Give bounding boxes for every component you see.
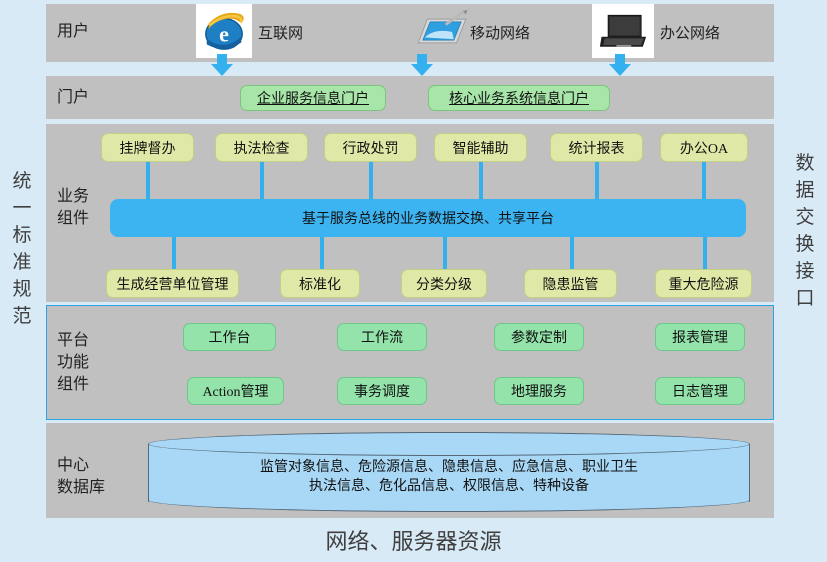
connector-top-5 [702, 162, 706, 199]
portal-box-core-business-label: 核心业务系统信息门户 [449, 88, 589, 108]
connector-bottom-2 [443, 237, 447, 269]
platform-box-report-management-label: 报表管理 [672, 327, 728, 347]
business-box-supervision-order-label: 挂牌督办 [120, 138, 176, 158]
connector-top-1 [260, 162, 264, 199]
platform-box-parameter-customization-label: 参数定制 [511, 327, 567, 347]
right-label-char-1: 据 [783, 177, 827, 204]
right-label-char-4: 接 [783, 258, 827, 285]
platform-box-workflow-label: 工作流 [361, 327, 403, 347]
business-box-statistics-report-label: 统计报表 [569, 138, 625, 158]
office-channel-caption: 办公网络 [660, 22, 720, 43]
business-box-hazard-supervision-label: 隐患监管 [543, 274, 599, 294]
arrow-down-office [609, 54, 631, 76]
platform-box-report-management[interactable]: 报表管理 [655, 323, 745, 351]
portal-box-enterprise-service[interactable]: 企业服务信息门户 [240, 85, 386, 111]
platform-box-workbench-label: 工作台 [209, 327, 251, 347]
service-bus-bar[interactable]: 基于服务总线的业务数据交换、共享平台 [110, 199, 746, 237]
business-box-law-inspection[interactable]: 执法检查 [215, 133, 308, 162]
database-row-label-line2: 数据库 [57, 477, 105, 499]
business-box-admin-penalty-label: 行政处罚 [343, 138, 399, 158]
business-row-label-line1: 业务 [57, 186, 89, 208]
portal-box-enterprise-service-label: 企业服务信息门户 [257, 88, 369, 108]
business-row-label-line2: 组件 [57, 208, 89, 230]
internet-explorer-icon: e [196, 4, 252, 58]
platform-box-workbench[interactable]: 工作台 [183, 323, 276, 351]
platform-row-label-line3: 组件 [57, 374, 89, 396]
database-content-text: 监管对象信息、危险源信息、隐患信息、应急信息、职业卫生 执法信息、危化品信息、权… [148, 458, 750, 496]
database-row-label-line1: 中心 [57, 455, 105, 477]
database-row-label: 中心 数据库 [57, 455, 105, 499]
left-label-char-0: 统 [0, 168, 44, 195]
tablet-glyph [414, 10, 470, 52]
business-box-office-oa[interactable]: 办公OA [660, 133, 748, 162]
platform-box-geographic-service[interactable]: 地理服务 [494, 377, 584, 405]
users-row-label: 用户 [57, 22, 89, 41]
tablet-icon [412, 6, 472, 56]
portal-box-core-business[interactable]: 核心业务系统信息门户 [428, 85, 610, 111]
business-box-classification-grading-label: 分类分级 [416, 274, 472, 294]
left-label-char-5: 范 [0, 303, 44, 330]
platform-box-log-management-label: 日志管理 [672, 381, 728, 401]
platform-box-action-management[interactable]: Action管理 [187, 377, 284, 405]
arrow-down-mobile [411, 54, 433, 76]
connector-top-4 [595, 162, 599, 199]
business-box-standardization-label: 标准化 [299, 274, 341, 294]
architecture-diagram: 统 一 标 准 规 范 数 据 交 换 接 口 用户 e 互联网 [0, 0, 827, 562]
business-box-business-unit-management-label: 生成经营单位管理 [117, 274, 229, 294]
left-label-char-1: 一 [0, 195, 44, 222]
business-row-label: 业务 组件 [57, 186, 89, 230]
connector-bottom-3 [570, 237, 574, 269]
right-vertical-label: 数 据 交 换 接 口 [783, 150, 827, 312]
platform-row-label-line1: 平台 [57, 330, 89, 352]
business-box-office-oa-label: 办公OA [680, 138, 728, 158]
business-box-statistics-report[interactable]: 统计报表 [550, 133, 643, 162]
platform-box-transaction-scheduling-label: 事务调度 [354, 381, 410, 401]
laptop-icon [592, 4, 654, 58]
right-label-char-0: 数 [783, 150, 827, 177]
connector-bottom-4 [703, 237, 707, 269]
left-label-char-3: 准 [0, 249, 44, 276]
left-label-char-4: 规 [0, 276, 44, 303]
platform-box-transaction-scheduling[interactable]: 事务调度 [337, 377, 427, 405]
database-content-line2: 执法信息、危化品信息、权限信息、特种设备 [148, 477, 750, 496]
connector-top-0 [146, 162, 150, 199]
platform-row-label: 平台 功能 组件 [57, 330, 89, 396]
right-label-char-2: 交 [783, 204, 827, 231]
portal-row-label: 门户 [57, 88, 89, 107]
connector-bottom-1 [320, 237, 324, 269]
right-label-char-5: 口 [783, 285, 827, 312]
platform-box-parameter-customization[interactable]: 参数定制 [494, 323, 584, 351]
left-label-char-2: 标 [0, 222, 44, 249]
business-box-smart-assist-label: 智能辅助 [453, 138, 509, 158]
mobile-channel-caption: 移动网络 [470, 22, 530, 43]
connector-top-2 [369, 162, 373, 199]
business-box-law-inspection-label: 执法检查 [234, 138, 290, 158]
cylinder-top-ellipse [148, 432, 750, 456]
platform-box-workflow[interactable]: 工作流 [337, 323, 427, 351]
business-box-hazard-supervision[interactable]: 隐患监管 [524, 269, 617, 298]
internet-channel-caption: 互联网 [258, 22, 303, 43]
business-box-major-hazard-source[interactable]: 重大危险源 [655, 269, 752, 298]
portal-row-band [46, 76, 774, 119]
business-box-classification-grading[interactable]: 分类分级 [401, 269, 487, 298]
connector-top-3 [479, 162, 483, 199]
arrow-down-internet [211, 54, 233, 76]
business-box-admin-penalty[interactable]: 行政处罚 [324, 133, 417, 162]
business-box-smart-assist[interactable]: 智能辅助 [434, 133, 527, 162]
business-box-standardization[interactable]: 标准化 [280, 269, 360, 298]
internet-explorer-glyph: e [201, 8, 247, 54]
platform-box-geographic-service-label: 地理服务 [511, 381, 567, 401]
business-box-business-unit-management[interactable]: 生成经营单位管理 [106, 269, 239, 298]
platform-box-action-management-label: Action管理 [202, 381, 268, 401]
svg-text:e: e [219, 22, 229, 47]
platform-box-log-management[interactable]: 日志管理 [655, 377, 745, 405]
left-vertical-label: 统 一 标 准 规 范 [0, 168, 44, 330]
central-database-cylinder: 监管对象信息、危险源信息、隐患信息、应急信息、职业卫生 执法信息、危化品信息、权… [148, 432, 750, 508]
laptop-glyph [598, 12, 648, 50]
service-bus-label: 基于服务总线的业务数据交换、共享平台 [302, 208, 554, 228]
right-label-char-3: 换 [783, 231, 827, 258]
connector-bottom-0 [172, 237, 176, 269]
footer-label: 网络、服务器资源 [0, 524, 827, 556]
database-content-line1: 监管对象信息、危险源信息、隐患信息、应急信息、职业卫生 [148, 458, 750, 477]
business-box-major-hazard-source-label: 重大危险源 [669, 274, 739, 294]
business-box-supervision-order[interactable]: 挂牌督办 [101, 133, 194, 162]
platform-row-label-line2: 功能 [57, 352, 89, 374]
